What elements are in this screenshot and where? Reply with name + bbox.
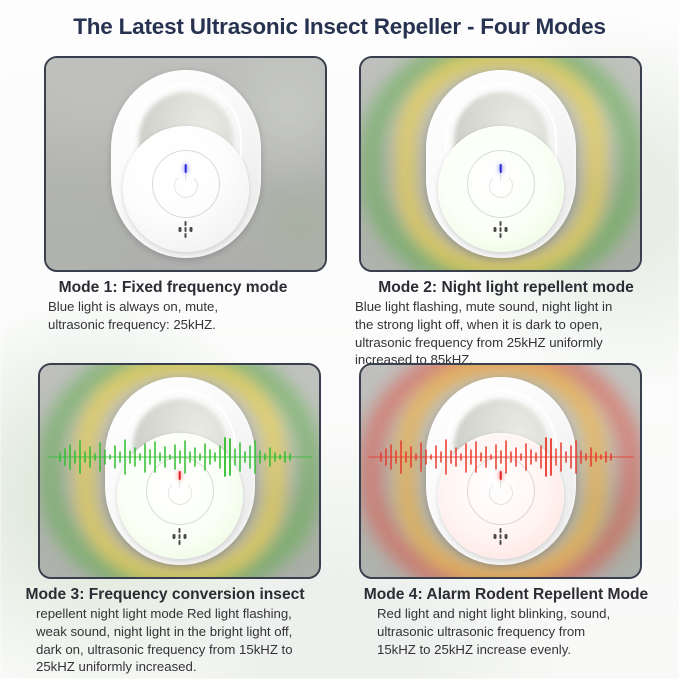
mode-1-image-panel — [44, 56, 327, 272]
blue-led-indicator — [184, 164, 187, 173]
mode-4-image-panel — [359, 363, 642, 579]
mode-3-desc-line-4: 25kHZ uniformly increased. — [36, 658, 330, 676]
red-led-indicator — [499, 471, 502, 480]
mode-2-desc-line-3: ultrasonic frequency from 25kHZ uniforml… — [355, 334, 671, 352]
mode-2-description: Blue light flashing, mute sound, night l… — [341, 298, 671, 369]
mode-1-desc-line-2: ultrasonic frequency: 25kHZ. — [48, 316, 338, 334]
power-button-icon — [489, 174, 513, 198]
speaker-grille-icon — [177, 221, 194, 238]
mode-3-desc-line-1: repellent night light mode Red light fla… — [36, 605, 330, 623]
mode-card-3: Mode 3: Frequency conversion insect repe… — [0, 363, 330, 676]
mode-2-desc-line-1: Blue light flashing, mute sound, night l… — [355, 298, 671, 316]
mode-3-image-panel — [38, 363, 321, 579]
mode-1-caption: Mode 1: Fixed frequency mode Blue light … — [8, 272, 338, 334]
device-face — [438, 433, 564, 559]
speaker-grille-icon — [492, 528, 509, 545]
repeller-device-3 — [105, 377, 255, 565]
power-button-icon — [174, 174, 198, 198]
device-face — [438, 126, 564, 252]
mode-card-4: Mode 4: Alarm Rodent Repellent Mode Red … — [341, 363, 671, 658]
modes-grid: Mode 1: Fixed frequency mode Blue light … — [0, 56, 679, 676]
mode-3-caption: Mode 3: Frequency conversion insect repe… — [0, 579, 330, 676]
mode-3-desc-line-3: dark on, ultrasonic frequency from 15kHZ… — [36, 641, 330, 659]
repeller-device-1 — [111, 70, 261, 258]
mode-1-desc-line-1: Blue light is always on, mute, — [48, 298, 338, 316]
red-led-indicator — [178, 471, 181, 480]
mode-4-desc-line-3: 15kHZ to 25kHZ increase evenly. — [377, 641, 671, 659]
power-button-icon — [168, 481, 192, 505]
mode-3-heading: Mode 3: Frequency conversion insect — [0, 585, 330, 604]
mode-2-desc-line-2: the strong light off, when it is dark to… — [355, 316, 671, 334]
mode-card-1: Mode 1: Fixed frequency mode Blue light … — [8, 56, 338, 334]
repeller-device-2 — [426, 70, 576, 258]
mode-4-heading: Mode 4: Alarm Rodent Repellent Mode — [341, 585, 671, 604]
mode-1-heading: Mode 1: Fixed frequency mode — [8, 278, 338, 297]
mode-4-desc-line-1: Red light and night light blinking, soun… — [377, 605, 671, 623]
device-face — [117, 433, 243, 559]
device-face — [123, 126, 249, 252]
mode-3-description: repellent night light mode Red light fla… — [0, 605, 330, 676]
speaker-grille-icon — [171, 528, 188, 545]
power-button-icon — [489, 481, 513, 505]
mode-2-image-panel — [359, 56, 642, 272]
mode-4-description: Red light and night light blinking, soun… — [341, 605, 671, 658]
mode-4-caption: Mode 4: Alarm Rodent Repellent Mode Red … — [341, 579, 671, 658]
blue-led-indicator — [499, 164, 502, 173]
speaker-grille-icon — [492, 221, 509, 238]
mode-3-desc-line-2: weak sound, night light in the bright li… — [36, 623, 330, 641]
mode-card-2: Mode 2: Night light repellent mode Blue … — [341, 56, 671, 369]
page-title: The Latest Ultrasonic Insect Repeller - … — [0, 14, 679, 40]
mode-4-desc-line-2: ultrasonic ultrasonic frequency from — [377, 623, 671, 641]
mode-2-caption: Mode 2: Night light repellent mode Blue … — [341, 272, 671, 369]
repeller-device-4 — [426, 377, 576, 565]
mode-1-description: Blue light is always on, mute, ultrasoni… — [8, 298, 338, 334]
mode-2-heading: Mode 2: Night light repellent mode — [341, 278, 671, 297]
